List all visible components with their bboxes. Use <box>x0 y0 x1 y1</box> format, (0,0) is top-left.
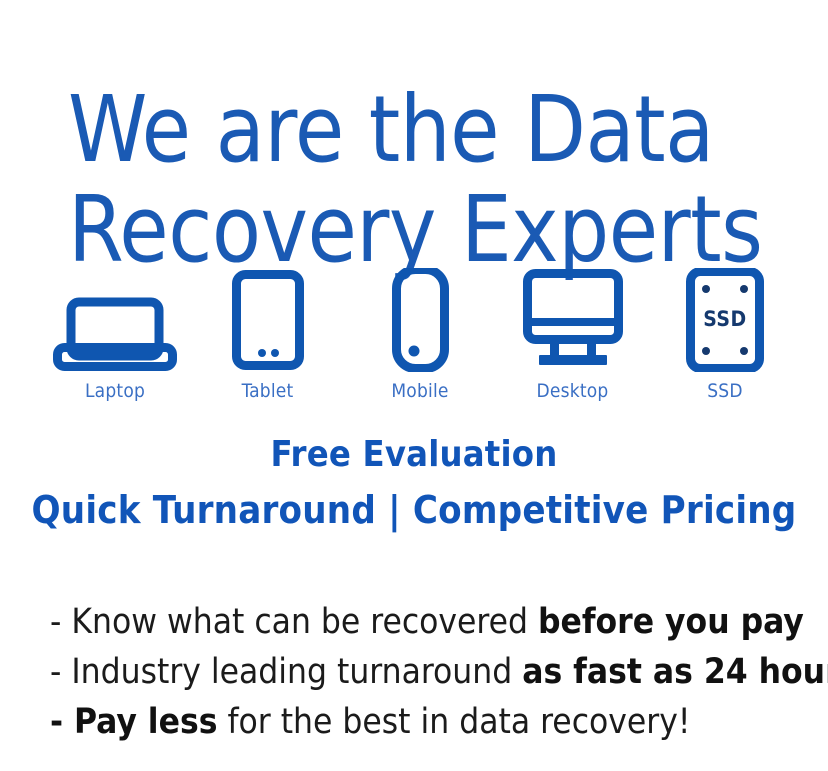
device-label-laptop: Laptop <box>85 381 145 402</box>
tagline-free-evaluation: Free Evaluation <box>0 432 828 478</box>
benefit-1-normal: Know what can be recovered <box>61 602 538 642</box>
device-item-ssd[interactable]: SSD SSD <box>650 250 800 402</box>
benefit-3-normal: for the best in data recovery! <box>217 702 690 742</box>
tagline-group: Free Evaluation Quick Turnaround | Compe… <box>0 432 828 534</box>
tablet-icon <box>205 260 331 372</box>
device-label-desktop: Desktop <box>537 381 609 402</box>
benefit-list: - Know what can be recovered before you … <box>50 597 810 747</box>
benefit-2-emphasis: as fast as 24 hours <box>522 652 828 692</box>
laptop-icon <box>52 260 178 372</box>
device-item-mobile[interactable]: Mobile <box>345 250 495 402</box>
device-item-tablet[interactable]: Tablet <box>193 250 343 402</box>
benefit-2-dash: - <box>50 652 61 692</box>
device-label-ssd: SSD <box>707 381 742 402</box>
benefit-1-emphasis: before you pay <box>538 602 804 642</box>
benefit-item-2: - Industry leading turnaround as fast as… <box>50 647 810 697</box>
ssd-inner-label: SSD <box>703 307 746 331</box>
promo-banner: We are the Data Recovery Experts Laptop <box>0 0 828 771</box>
benefit-3-emphasis: - Pay less <box>50 702 217 742</box>
device-label-mobile: Mobile <box>391 381 448 402</box>
benefit-1-dash: - <box>50 602 61 642</box>
ssd-icon: SSD <box>662 260 788 372</box>
benefit-2-normal: Industry leading turnaround <box>61 652 522 692</box>
device-list: Laptop Tablet Mobile <box>40 250 800 402</box>
device-item-desktop[interactable]: Desktop <box>498 250 648 402</box>
headline-line-1: We are the Data <box>68 80 786 180</box>
benefit-item-3: - Pay less for the best in data recovery… <box>50 697 810 747</box>
device-item-laptop[interactable]: Laptop <box>40 250 190 402</box>
benefit-item-1: - Know what can be recovered before you … <box>50 597 810 647</box>
tagline-turnaround-pricing: Quick Turnaround | Competitive Pricing <box>0 486 828 534</box>
device-label-tablet: Tablet <box>242 381 294 402</box>
desktop-icon <box>510 260 636 372</box>
mobile-icon <box>357 260 483 372</box>
